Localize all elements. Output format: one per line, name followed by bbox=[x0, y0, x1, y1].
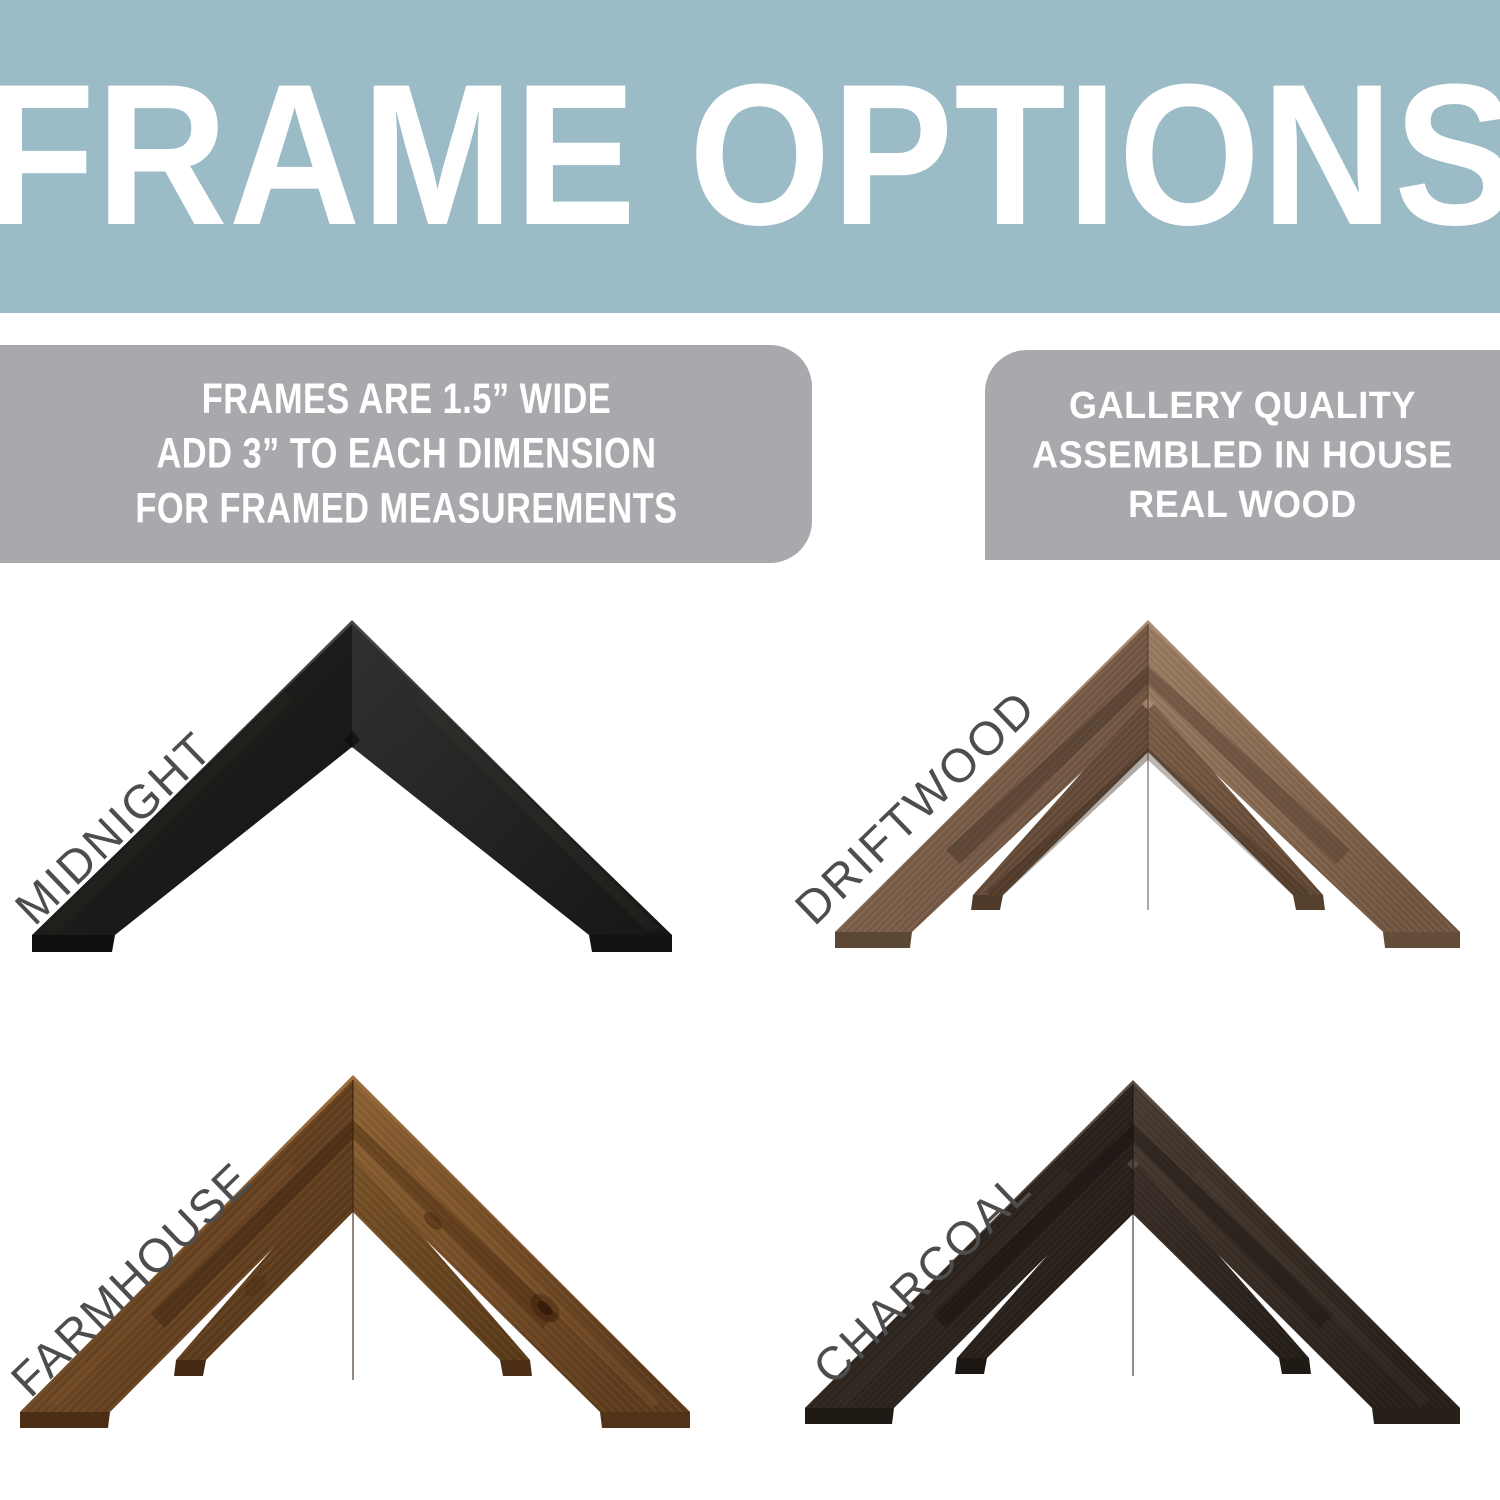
frame-corner-midnight bbox=[0, 580, 750, 980]
quality-line-2: ASSEMBLED IN HOUSE bbox=[1032, 430, 1453, 479]
info-box-measurements: FRAMES ARE 1.5” WIDE ADD 3” TO EACH DIME… bbox=[0, 345, 812, 563]
info-box-quality-text: GALLERY QUALITY ASSEMBLED IN HOUSE REAL … bbox=[1032, 381, 1453, 528]
frame-corner-charcoal bbox=[760, 1040, 1500, 1460]
quality-line-1: GALLERY QUALITY bbox=[1032, 381, 1453, 430]
measurements-line-3: FOR FRAMED MEASUREMENTS bbox=[135, 481, 677, 536]
info-box-quality: GALLERY QUALITY ASSEMBLED IN HOUSE REAL … bbox=[985, 350, 1500, 560]
header-band: FRAME OPTIONS bbox=[0, 0, 1500, 313]
measurements-line-1: FRAMES ARE 1.5” WIDE bbox=[135, 372, 677, 427]
page-title: FRAME OPTIONS bbox=[0, 54, 1500, 255]
frame-corner-farmhouse bbox=[0, 1040, 750, 1460]
frame-swatch-farmhouse[interactable]: FARMHOUSE bbox=[0, 1040, 750, 1460]
frame-corner-driftwood bbox=[760, 580, 1500, 980]
frame-swatch-driftwood[interactable]: DRIFTWOOD bbox=[760, 580, 1500, 980]
measurements-line-2: ADD 3” TO EACH DIMENSION bbox=[135, 427, 677, 482]
frame-swatch-charcoal[interactable]: CHARCOAL bbox=[760, 1040, 1500, 1460]
info-box-measurements-text: FRAMES ARE 1.5” WIDE ADD 3” TO EACH DIME… bbox=[135, 372, 677, 536]
frame-swatch-midnight[interactable]: MIDNIGHT bbox=[0, 580, 750, 980]
quality-line-3: REAL WOOD bbox=[1032, 480, 1453, 529]
